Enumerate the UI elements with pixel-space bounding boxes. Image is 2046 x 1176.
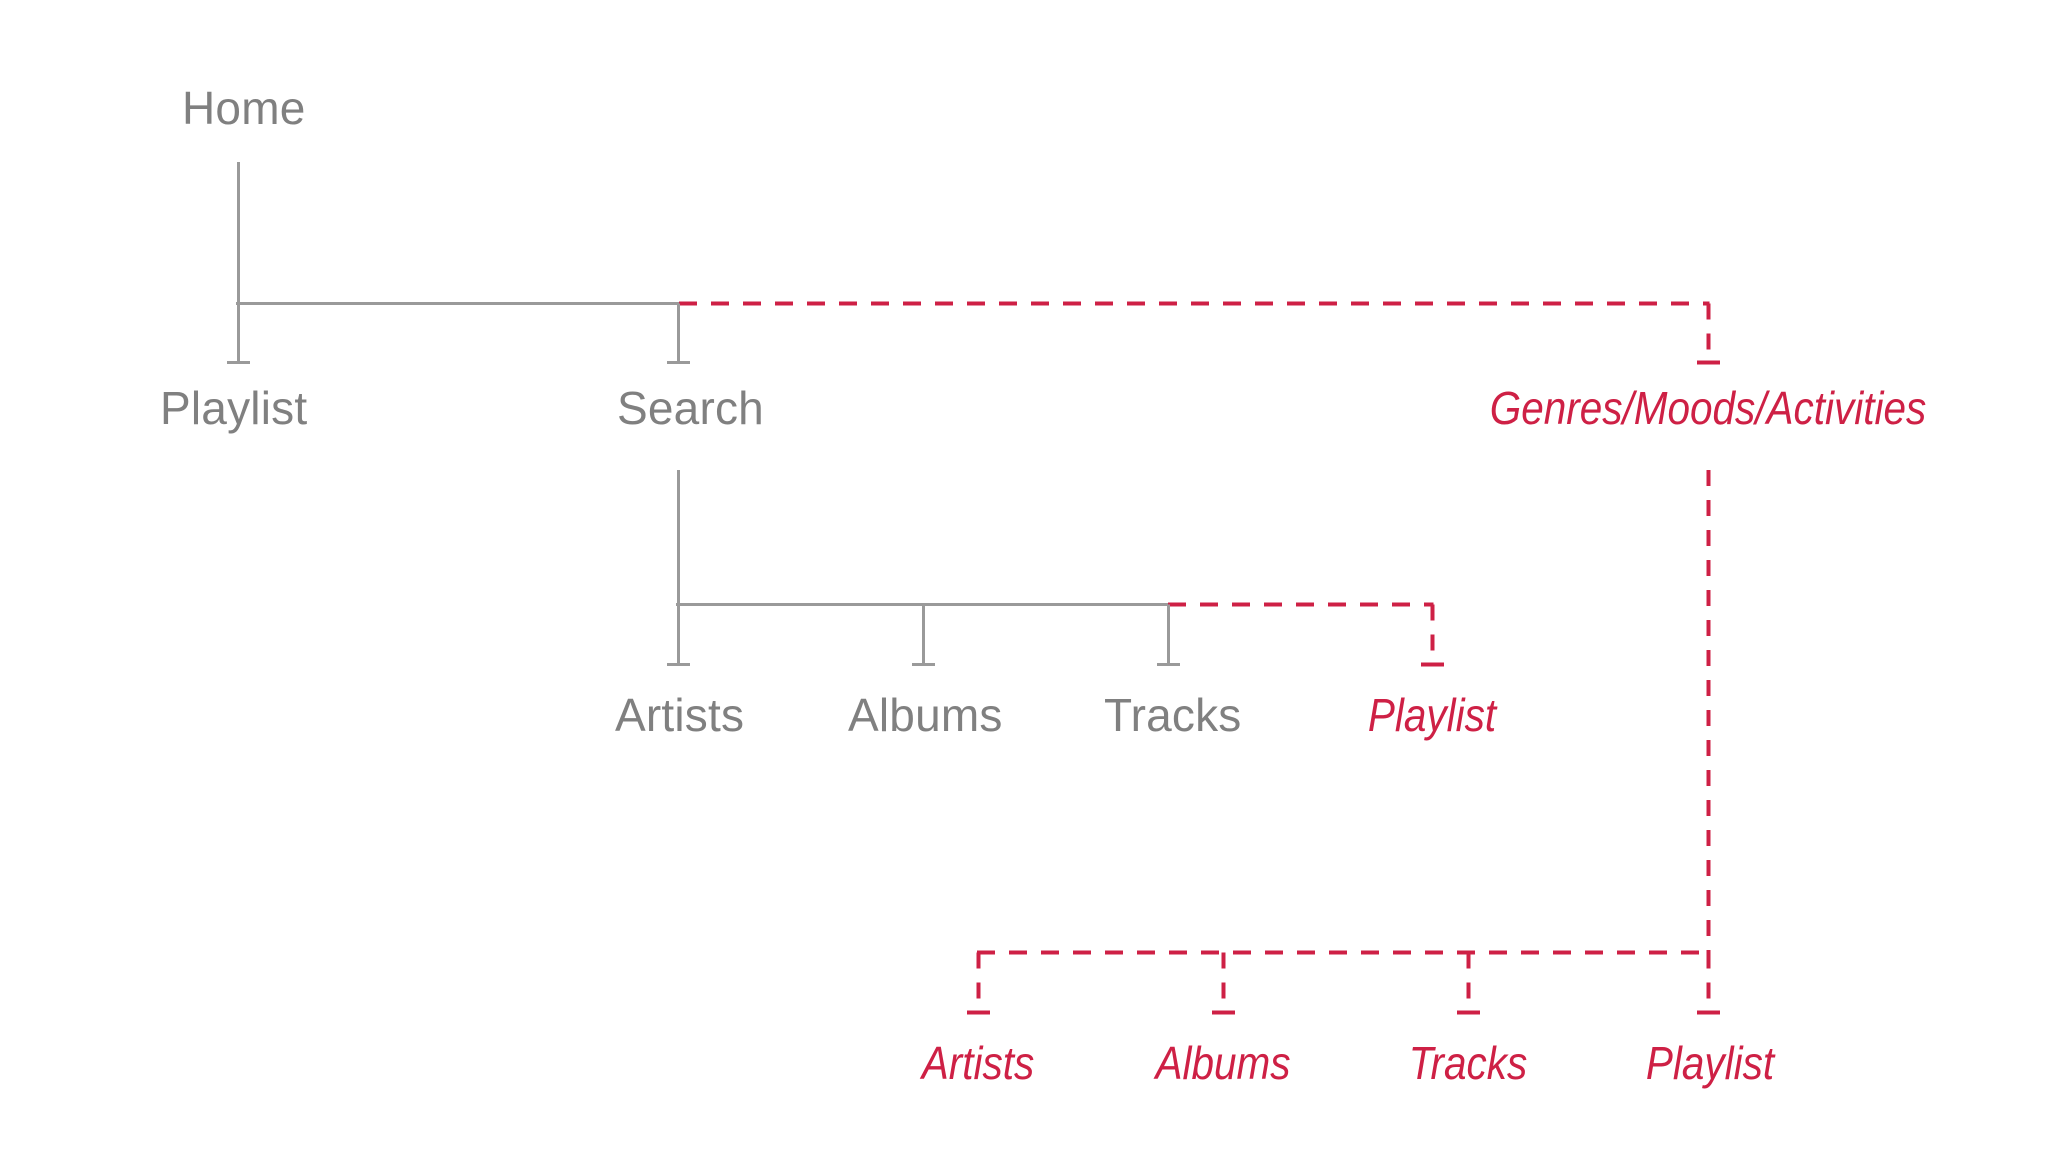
node-genres-moods-activities[interactable]: Genres/Moods/Activities bbox=[1488, 385, 1928, 431]
node-search-playlist[interactable]: Playlist bbox=[1322, 692, 1542, 738]
node-home[interactable]: Home bbox=[182, 85, 306, 131]
node-search-tracks[interactable]: Tracks bbox=[1104, 692, 1242, 738]
sitemap-canvas: Home Playlist Search Genres/Moods/Activi… bbox=[0, 0, 2046, 1176]
node-playlist-root[interactable]: Playlist bbox=[160, 385, 307, 431]
node-genres-artists[interactable]: Artists bbox=[868, 1040, 1088, 1086]
node-search-albums[interactable]: Albums bbox=[848, 692, 1003, 738]
node-genres-tracks[interactable]: Tracks bbox=[1358, 1040, 1578, 1086]
node-genres-albums[interactable]: Albums bbox=[1113, 1040, 1333, 1086]
sitemap-connectors bbox=[0, 0, 2046, 1176]
node-genres-playlist[interactable]: Playlist bbox=[1600, 1040, 1820, 1086]
node-search[interactable]: Search bbox=[617, 385, 764, 431]
node-search-artists[interactable]: Artists bbox=[615, 692, 744, 738]
